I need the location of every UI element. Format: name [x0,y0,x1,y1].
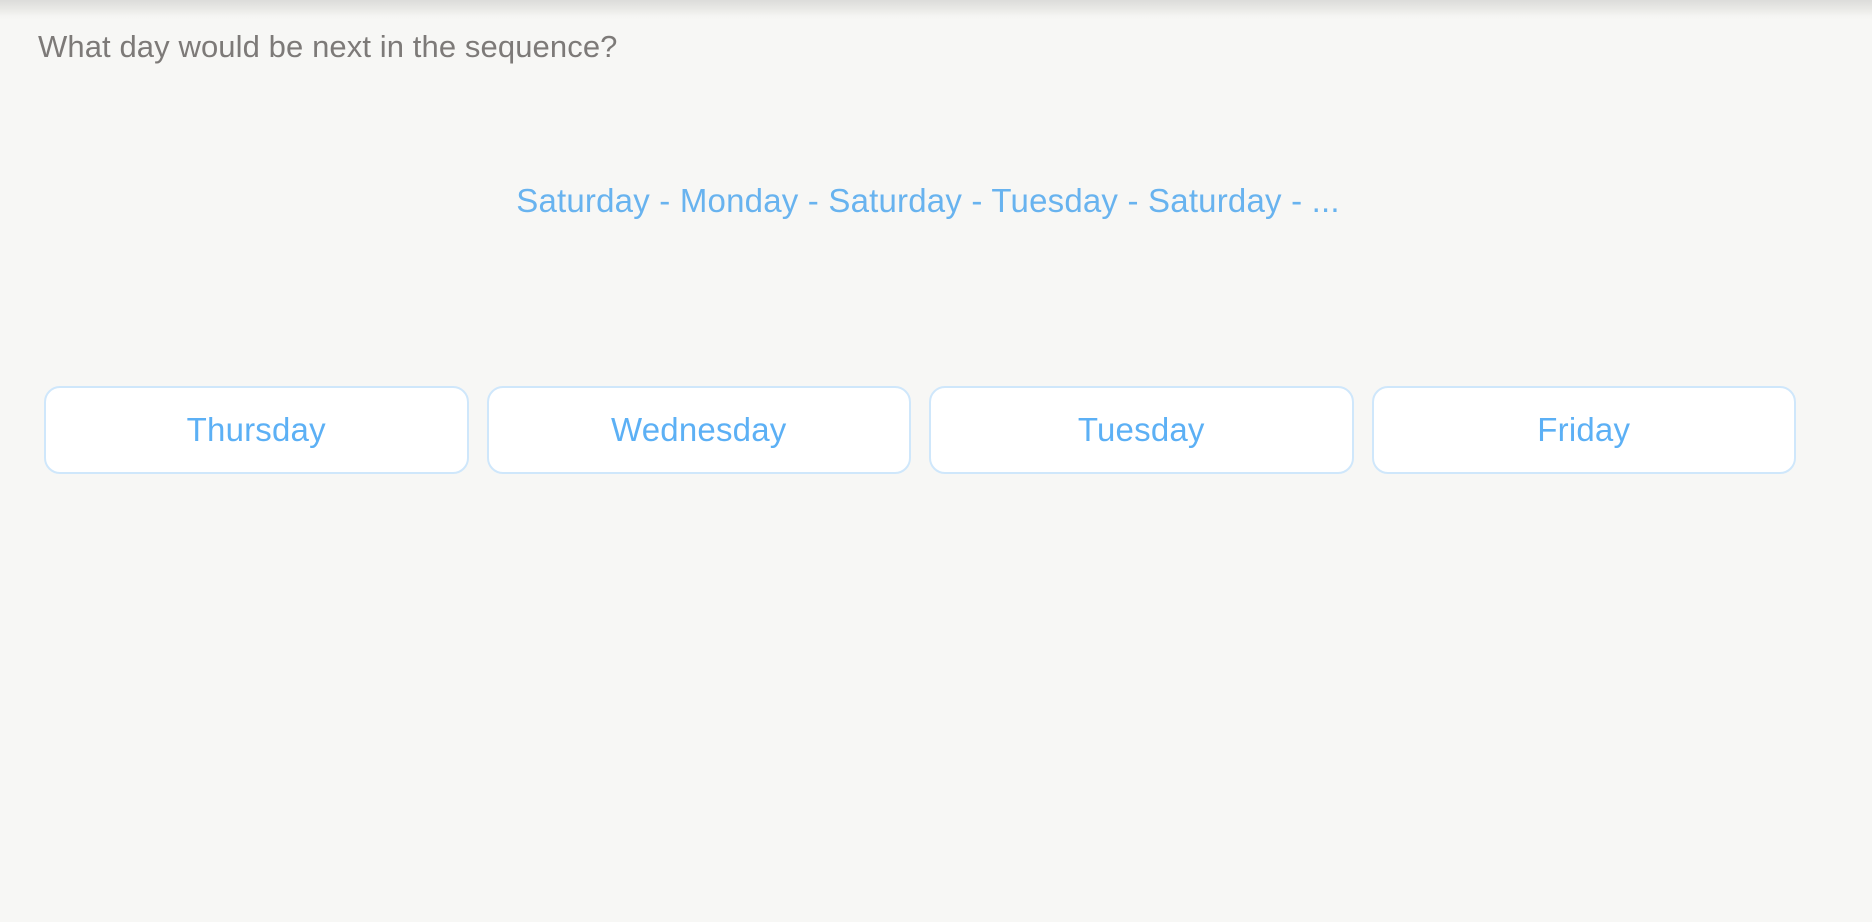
quiz-panel: What day would be next in the sequence? … [0,0,1872,922]
sequence-text: Saturday - Monday - Saturday - Tuesday -… [516,180,1340,222]
answer-option-wednesday[interactable]: Wednesday [487,386,912,474]
sequence-container: Saturday - Monday - Saturday - Tuesday -… [0,180,1872,222]
answer-option-label: Wednesday [611,410,786,450]
question-prompt: What day would be next in the sequence? [38,27,618,67]
answer-option-label: Friday [1537,410,1630,450]
answer-option-tuesday[interactable]: Tuesday [929,386,1354,474]
answer-option-friday[interactable]: Friday [1372,386,1797,474]
answer-option-thursday[interactable]: Thursday [44,386,469,474]
answer-option-label: Tuesday [1078,410,1205,450]
answer-options-row: Thursday Wednesday Tuesday Friday [44,386,1796,474]
answer-option-label: Thursday [187,410,326,450]
